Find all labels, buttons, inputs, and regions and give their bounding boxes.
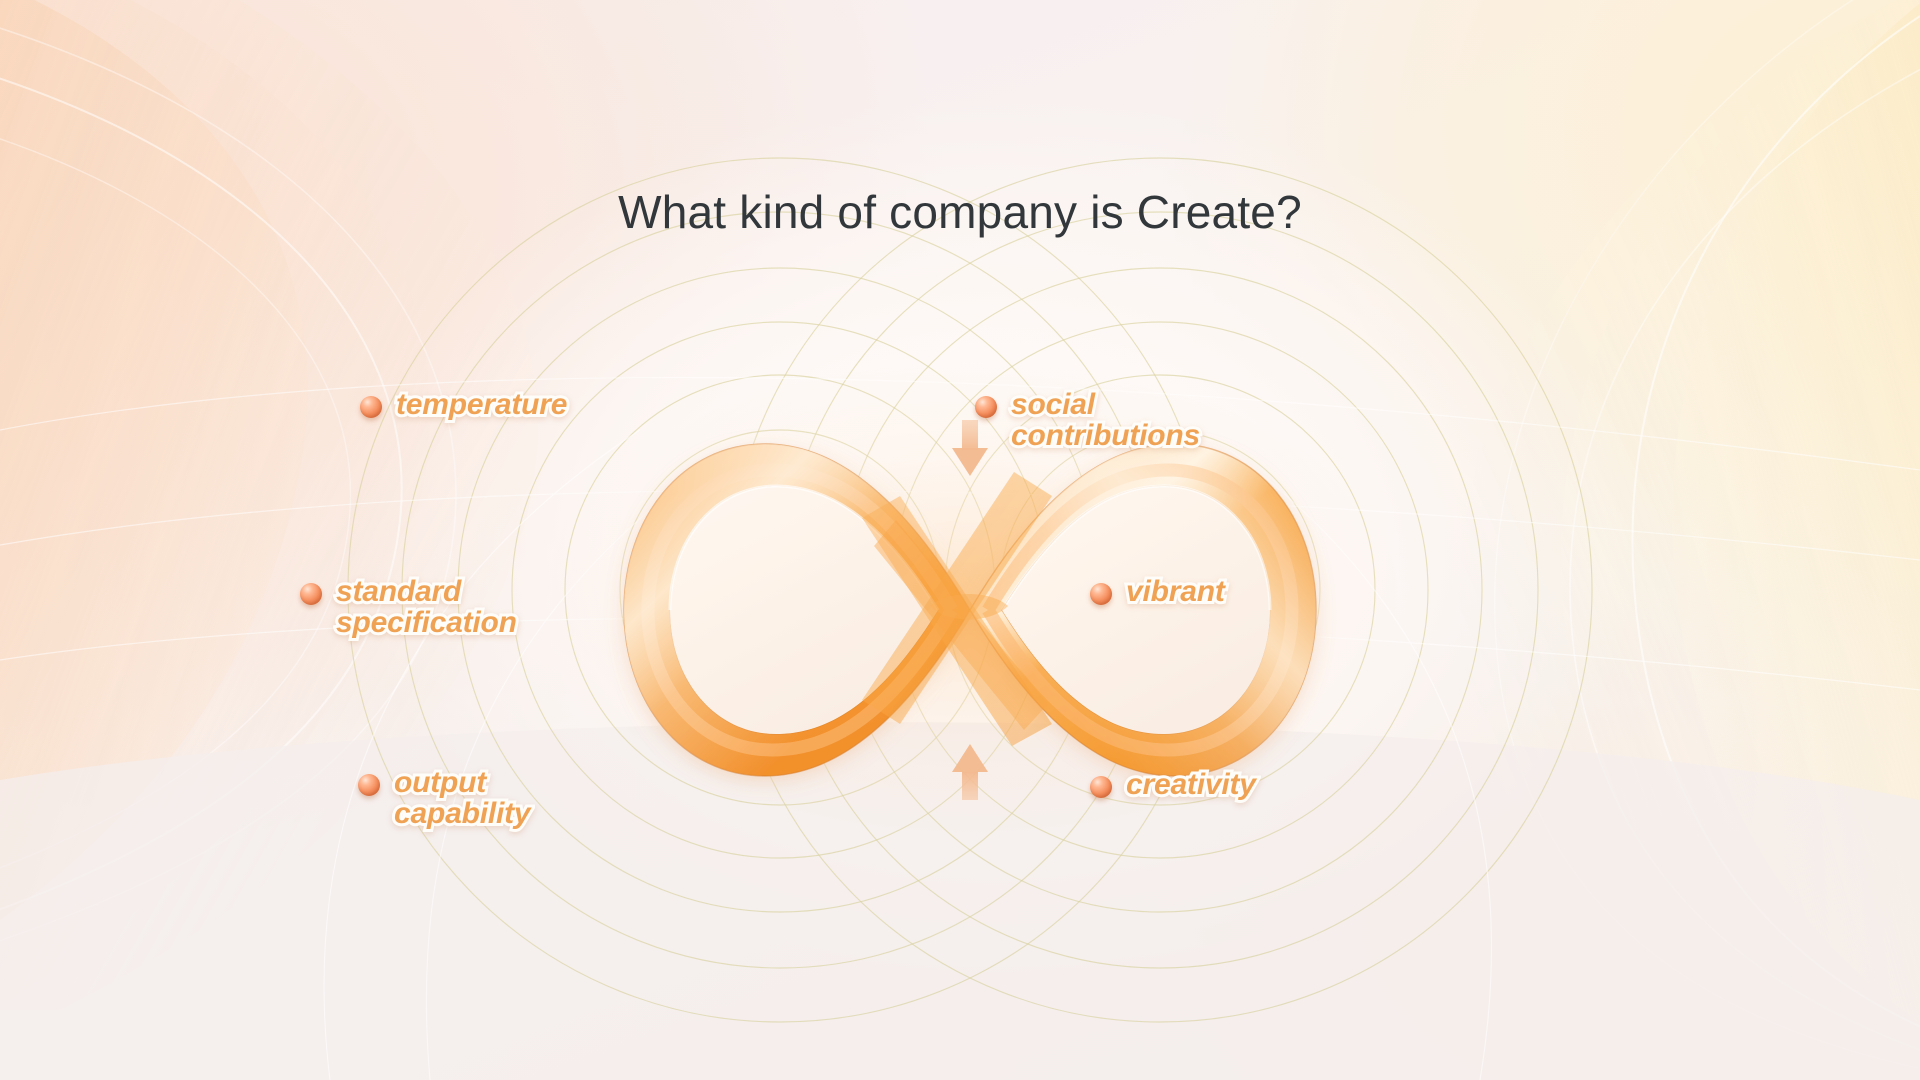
label-text: output capability — [394, 768, 530, 829]
label-output-capability[interactable]: output capability — [358, 768, 530, 829]
slide-canvas: What kind of company is Create? — [0, 0, 1920, 1080]
convergence-arrows — [930, 420, 1010, 800]
bullet-sphere-icon — [300, 583, 322, 605]
label-creativity[interactable]: creativity — [1090, 770, 1256, 801]
label-text: social contributions — [1011, 390, 1200, 451]
arrow-up-icon — [952, 744, 988, 800]
bullet-sphere-icon — [1090, 776, 1112, 798]
bullet-sphere-icon — [1090, 583, 1112, 605]
label-vibrant[interactable]: vibrant — [1090, 577, 1225, 608]
bullet-sphere-icon — [975, 396, 997, 418]
bullet-sphere-icon — [358, 774, 380, 796]
page-title: What kind of company is Create? — [0, 185, 1920, 239]
label-standard-specification[interactable]: standard specification — [300, 577, 517, 638]
label-temperature[interactable]: temperature — [360, 390, 567, 421]
label-text: vibrant — [1126, 577, 1225, 608]
bullet-sphere-icon — [360, 396, 382, 418]
label-text: creativity — [1126, 770, 1256, 801]
label-social-contributions[interactable]: social contributions — [975, 390, 1200, 451]
label-text: standard specification — [336, 577, 517, 638]
label-text: temperature — [396, 390, 567, 421]
